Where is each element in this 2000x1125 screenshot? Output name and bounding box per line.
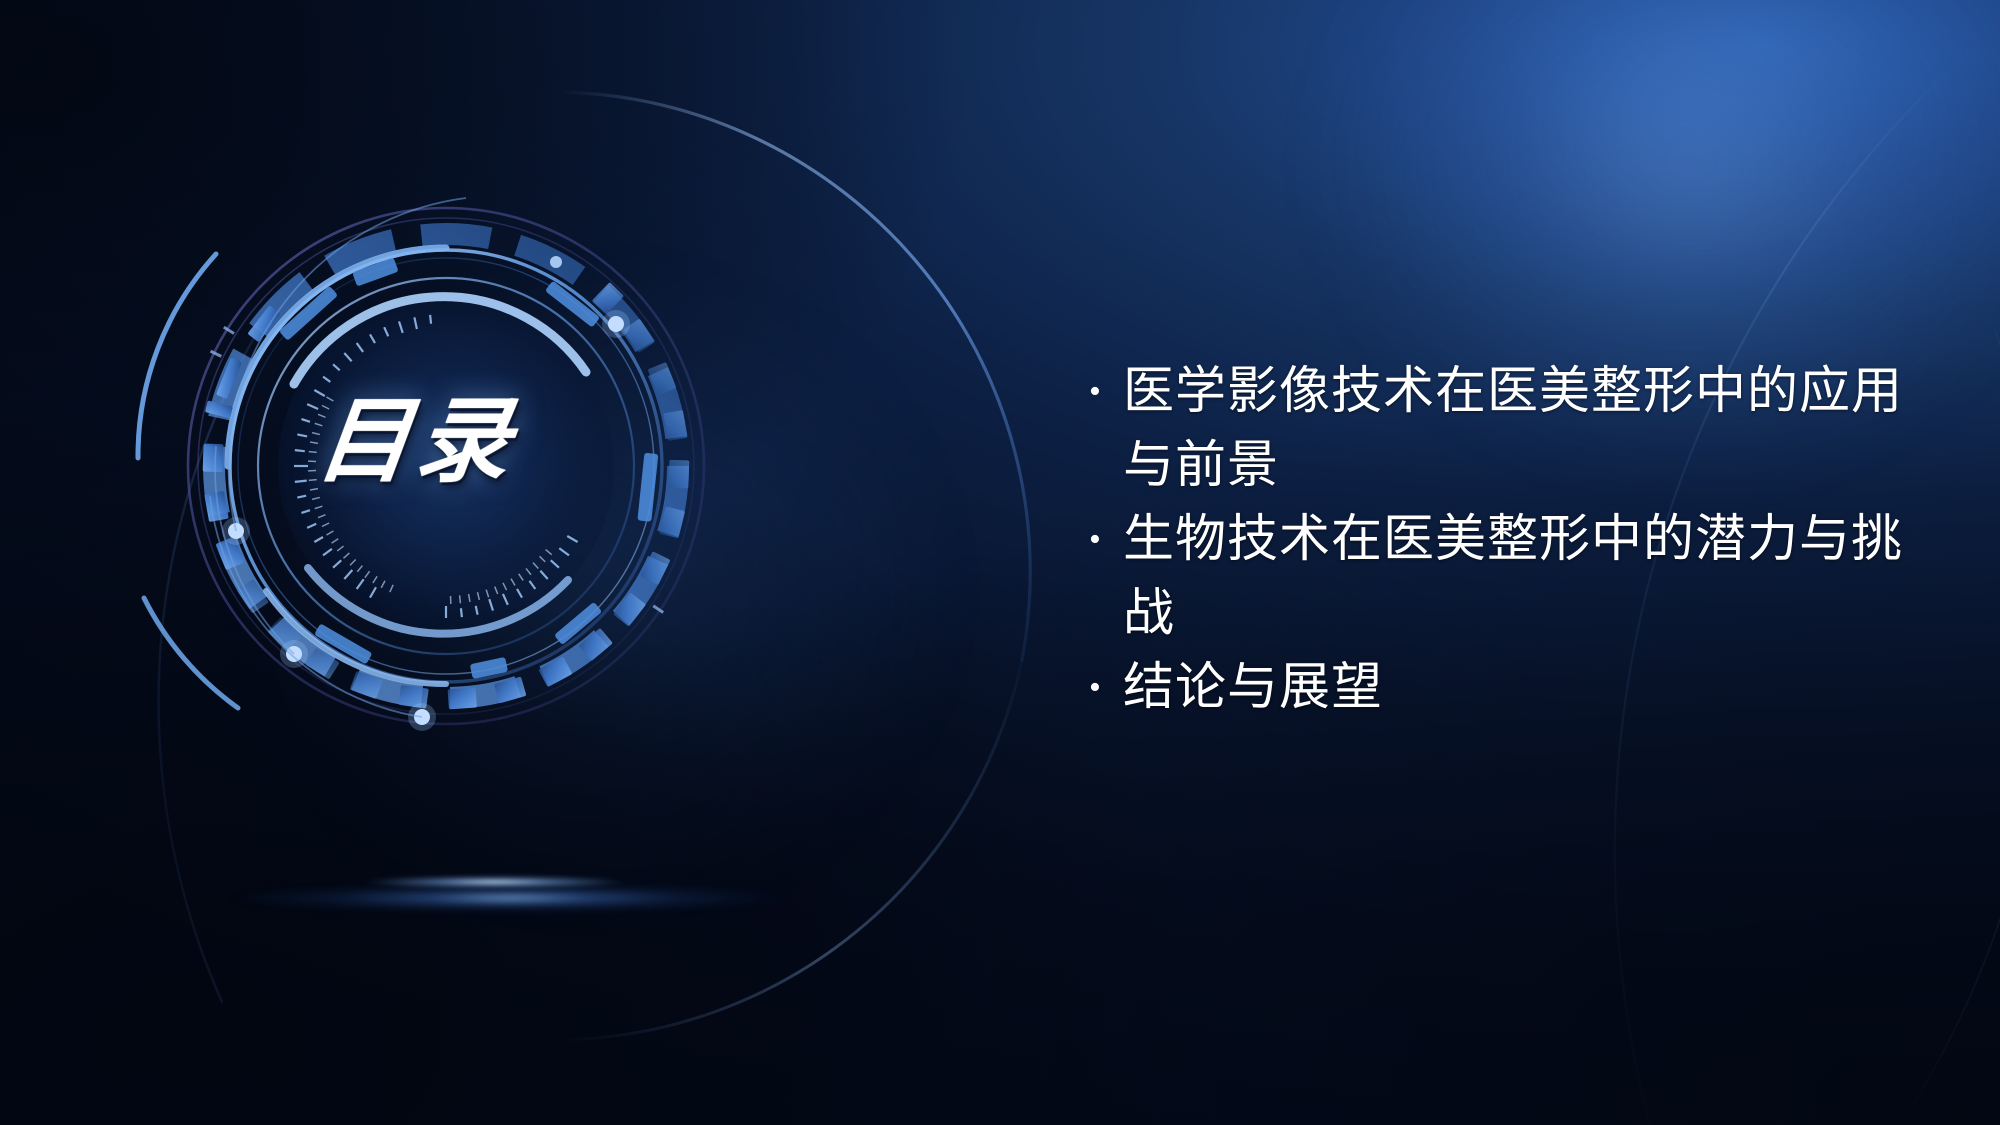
toc-wordmark: 目录 bbox=[318, 386, 618, 496]
agenda-item-3-text: 结论与展望 bbox=[1123, 651, 1913, 725]
agenda-item-1-text: 医学影像技术在医美整形中的应用 bbox=[1123, 355, 1913, 429]
agenda-item-1-wrap: 与前景 bbox=[1083, 429, 1913, 503]
bullet-dot-icon: • bbox=[1083, 651, 1123, 725]
agenda-item-2-text-cont: 战 bbox=[1123, 577, 1913, 651]
agenda-item-1-text-cont: 与前景 bbox=[1123, 429, 1913, 503]
toc-wordmark-text: 目录 bbox=[312, 395, 521, 488]
agenda-list: • 医学影像技术在医美整形中的应用 与前景 • 生物技术在医美整形中的潜力与挑 … bbox=[1083, 355, 1913, 725]
slide-root: 目录 • 医学影像技术在医美整形中的应用 与前景 • 生物技术在医美整形中的潜力… bbox=[0, 0, 2000, 1125]
agenda-item-2-text: 生物技术在医美整形中的潜力与挑 bbox=[1123, 503, 1913, 577]
agenda-item-3[interactable]: • 结论与展望 bbox=[1083, 651, 1913, 725]
agenda-item-1[interactable]: • 医学影像技术在医美整形中的应用 bbox=[1083, 355, 1913, 429]
agenda-item-2[interactable]: • 生物技术在医美整形中的潜力与挑 bbox=[1083, 503, 1913, 577]
agenda-item-2-wrap: 战 bbox=[1083, 577, 1913, 651]
dial-floor-glow-core bbox=[330, 874, 660, 890]
bullet-dot-icon: • bbox=[1083, 355, 1123, 429]
bullet-dot-icon: • bbox=[1083, 503, 1123, 577]
